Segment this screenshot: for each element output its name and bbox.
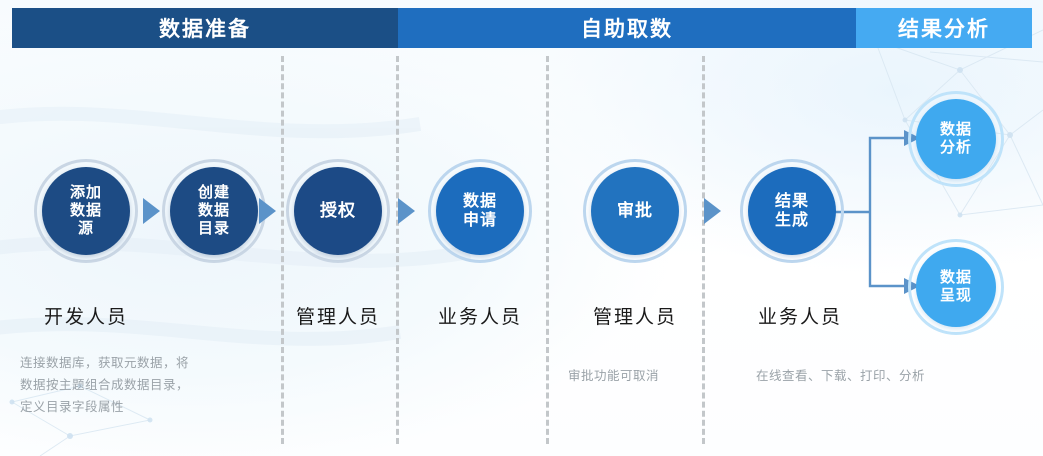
- flow-arrow-1: [143, 198, 160, 224]
- node-label: 审批: [617, 201, 653, 221]
- node-result-generate[interactable]: 结果 生成: [748, 167, 836, 255]
- role-label-text: 业务人员: [758, 306, 842, 328]
- flow-arrow-4: [704, 198, 721, 224]
- role-label-admin-1: 管理人员: [296, 302, 380, 329]
- node-data-presentation[interactable]: 数据 呈现: [916, 247, 996, 327]
- flow-arrow-3: [398, 198, 415, 224]
- node-authorize[interactable]: 授权: [294, 167, 382, 255]
- node-data-request[interactable]: 数据 申请: [436, 167, 524, 255]
- node-approval[interactable]: 审批: [591, 167, 679, 255]
- flow-arrow-2: [259, 198, 276, 224]
- description-data-preparation: 连接数据库，获取元数据，将 数据按主题组合成数据目录， 定义目录字段属性: [20, 352, 275, 418]
- description-result: 在线查看、下载、打印、分析: [756, 365, 1016, 387]
- stage-band-data-preparation: 数据准备: [12, 8, 398, 48]
- stage-band-label: 数据准备: [159, 13, 251, 43]
- role-label-text: 管理人员: [593, 306, 677, 328]
- node-label: 创建 数据 目录: [198, 184, 230, 237]
- lane-divider-3: [546, 56, 549, 444]
- role-label-business-1: 业务人员: [438, 302, 522, 329]
- node-label: 数据 分析: [940, 121, 972, 156]
- role-label-text: 管理人员: [296, 306, 380, 328]
- node-data-analysis[interactable]: 数据 分析: [916, 99, 996, 179]
- role-label-business-2: 业务人员: [758, 302, 842, 329]
- node-create-catalog[interactable]: 创建 数据 目录: [170, 167, 258, 255]
- node-add-datasource[interactable]: 添加 数据 源: [42, 167, 130, 255]
- stage-band-self-service: 自助取数: [398, 8, 856, 48]
- stage-band-label: 结果分析: [898, 13, 990, 43]
- role-label-admin-2: 管理人员: [593, 302, 677, 329]
- stage-band-label: 自助取数: [581, 13, 673, 43]
- role-label-developer: 开发人员: [44, 302, 128, 329]
- flow-diagram-canvas: 数据准备 自助取数 结果分析 添加 数据 源 创建 数据 目录 授权: [0, 0, 1043, 456]
- node-label: 结果 生成: [775, 192, 809, 230]
- node-label: 数据 申请: [463, 192, 497, 230]
- role-label-text: 业务人员: [438, 306, 522, 328]
- node-label: 授权: [320, 201, 356, 221]
- lane-divider-1: [281, 56, 284, 444]
- stage-band-result-analysis: 结果分析: [856, 8, 1032, 48]
- node-label: 添加 数据 源: [70, 184, 102, 237]
- lane-divider-2: [396, 56, 399, 444]
- description-approval: 审批功能可取消: [568, 365, 748, 387]
- node-label: 数据 呈现: [940, 269, 972, 304]
- role-label-text: 开发人员: [44, 306, 128, 328]
